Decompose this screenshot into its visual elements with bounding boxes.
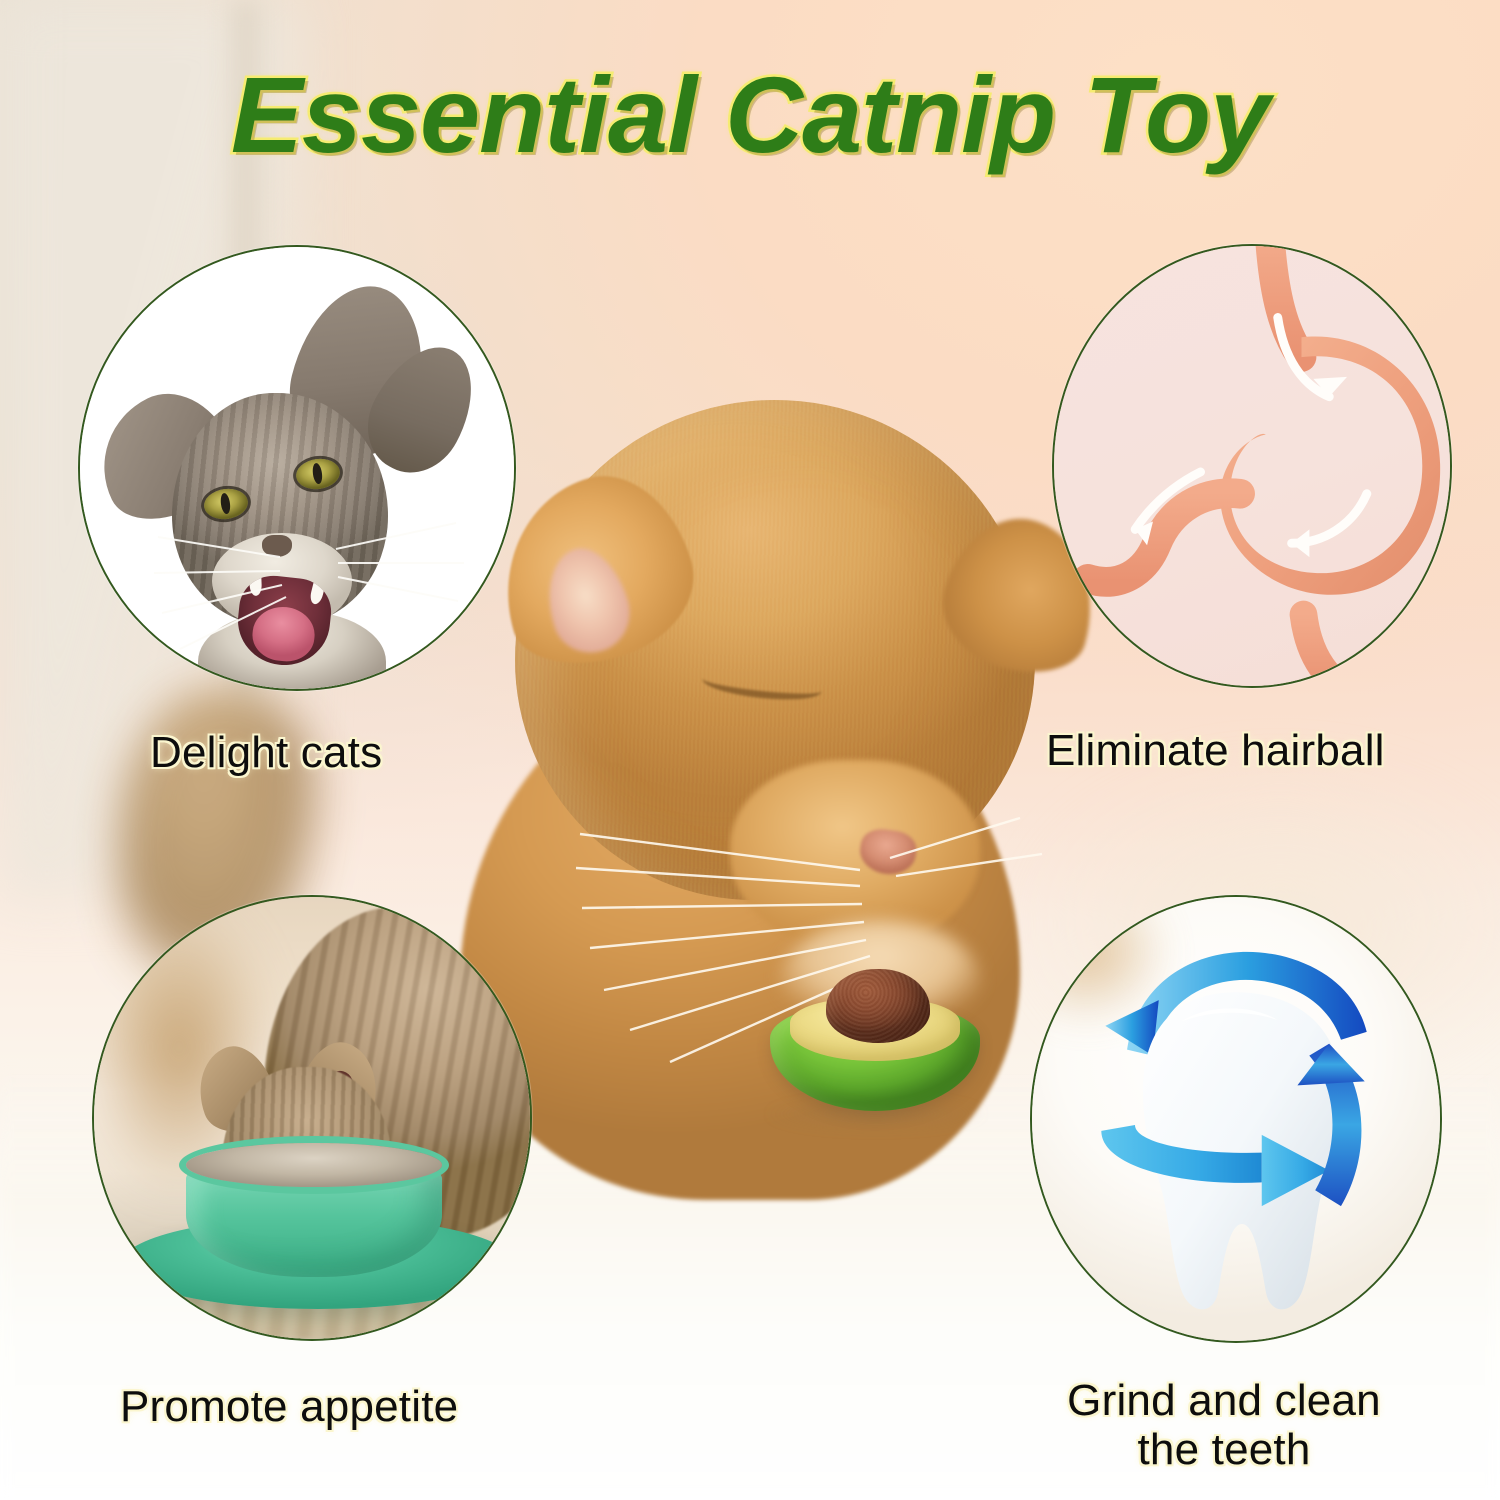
delight-cats-image xyxy=(80,247,514,689)
feature-circle-promote-appetite[interactable] xyxy=(92,895,532,1341)
bl-bowl-rim xyxy=(186,1143,442,1187)
toy-catnip-ball xyxy=(826,969,930,1043)
tl-cat-whiskers xyxy=(140,497,470,687)
caption-delight-cats: Delight cats xyxy=(150,728,382,777)
infographic-canvas: Essential Catnip Toy xyxy=(0,0,1500,1500)
promote-appetite-image xyxy=(94,897,530,1339)
caption-eliminate-hairball: Eliminate hairball xyxy=(1046,726,1385,775)
tooth-with-arrows-icon xyxy=(1032,897,1440,1341)
feature-circle-delight-cats[interactable] xyxy=(78,245,516,691)
feature-circle-grind-clean-teeth[interactable] xyxy=(1030,895,1442,1343)
feature-circle-eliminate-hairball[interactable] xyxy=(1052,244,1452,688)
avocado-catnip-toy xyxy=(770,965,980,1110)
stomach-diagram-icon xyxy=(1054,246,1450,686)
caption-promote-appetite: Promote appetite xyxy=(120,1382,458,1431)
eliminate-hairball-image xyxy=(1054,246,1450,686)
grind-clean-teeth-image xyxy=(1032,897,1440,1341)
caption-grind-clean-teeth: Grind and clean the teeth xyxy=(1054,1376,1394,1475)
